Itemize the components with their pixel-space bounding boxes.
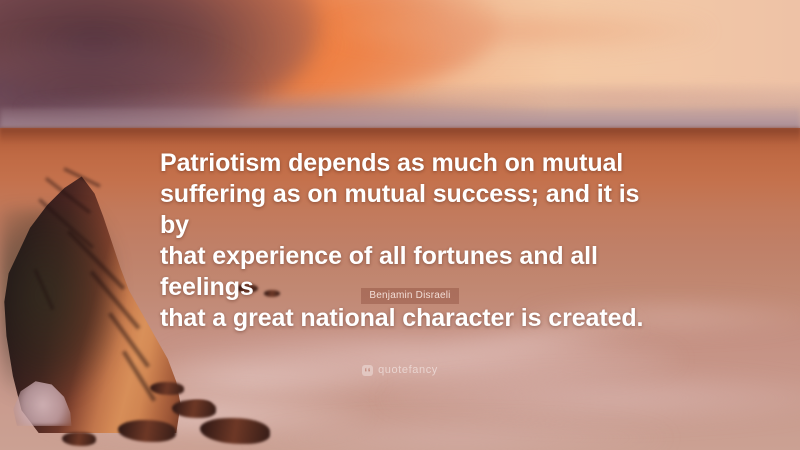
author-name: Benjamin Disraeli (361, 288, 458, 304)
quote-line: suffering as on mutual success; and it i… (160, 179, 660, 241)
horizon-line (0, 128, 800, 144)
watermark-brand: quotefancy (378, 364, 438, 376)
cloud-wisp-right (420, 86, 800, 106)
water-rock (118, 420, 176, 442)
quote-image: Patriotism depends as much on mutual suf… (0, 0, 800, 450)
cloud-wisp-upper (330, 10, 710, 52)
water-rock (172, 400, 216, 418)
quote-mark-badge-icon (362, 365, 373, 376)
quote-line: that a great national character is creat… (160, 303, 660, 334)
quote-line: Patriotism depends as much on mutual (160, 148, 660, 179)
author-attribution: Benjamin Disraeli (160, 285, 660, 304)
quote-text: Patriotism depends as much on mutual suf… (160, 148, 660, 334)
water-rock (62, 432, 96, 446)
water-rock (150, 382, 184, 395)
foam-streak (250, 418, 670, 450)
watermark[interactable]: quotefancy (0, 364, 800, 376)
